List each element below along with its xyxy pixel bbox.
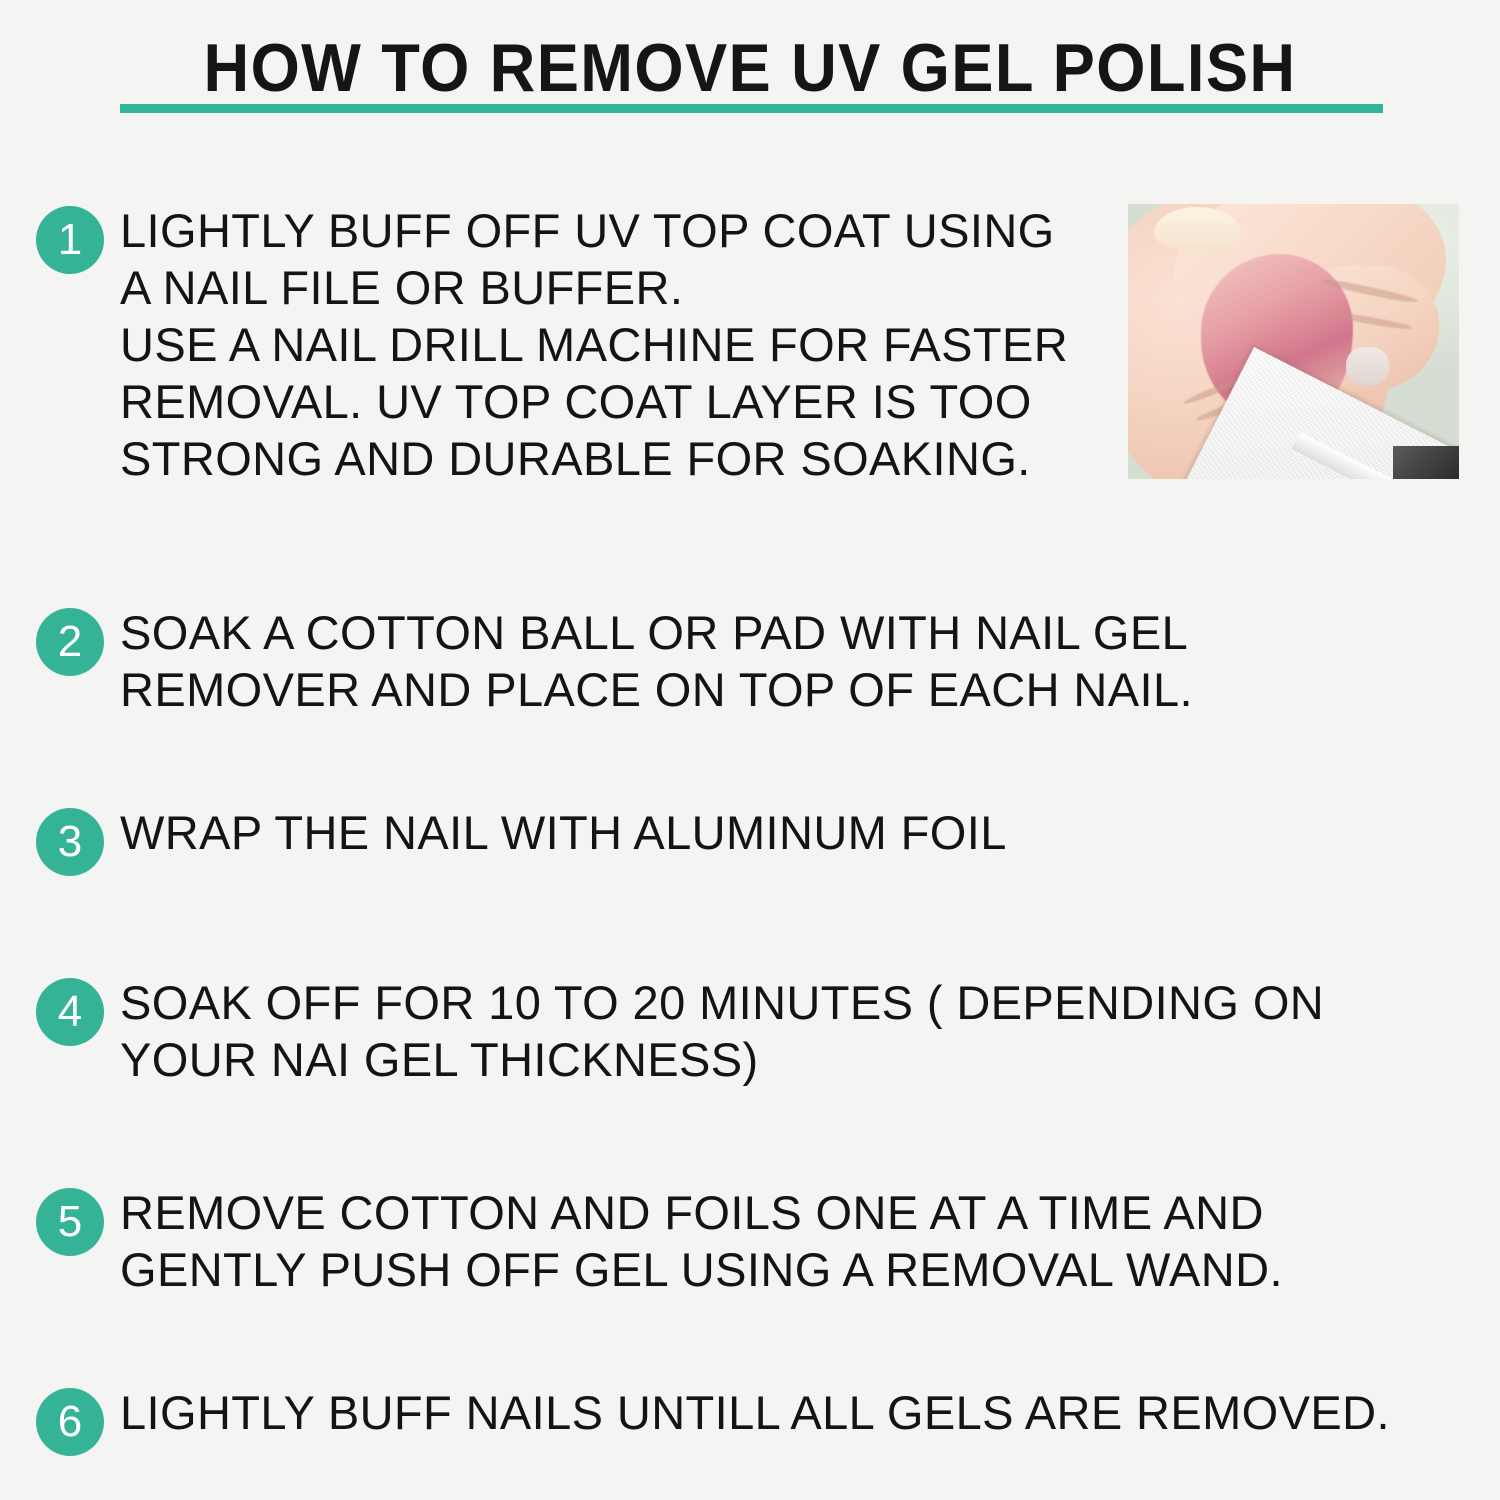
step-line: STRONG AND DURABLE FOR SOAKING. [120,430,1120,487]
page-title: HOW TO REMOVE UV GEL POLISH [53,34,1448,102]
thumbnail-shape [1154,207,1240,251]
step-number-badge: 6 [36,1388,104,1456]
step-line: YOUR NAI GEL THICKNESS) [120,1031,1410,1088]
step-text: WRAP THE NAIL WITH ALUMINUM FOIL [120,804,1410,861]
step-number-badge: 4 [36,978,104,1046]
step-line: LIGHTLY BUFF NAILS UNTILL ALL GELS ARE R… [120,1384,1410,1441]
step-text: REMOVE COTTON AND FOILS ONE AT A TIME AN… [120,1184,1410,1298]
step-line: REMOVAL. UV TOP COAT LAYER IS TOO [120,373,1120,430]
step-line: SOAK OFF FOR 10 TO 20 MINUTES ( DEPENDIN… [120,974,1410,1031]
step-line: LIGHTLY BUFF OFF UV TOP COAT USING [120,202,1120,259]
step-line: USE A NAIL DRILL MACHINE FOR FASTER [120,316,1120,373]
step-line: REMOVER AND PLACE ON TOP OF EACH NAIL. [120,661,1410,718]
step-line: WRAP THE NAIL WITH ALUMINUM FOIL [120,804,1410,861]
step-number-badge: 5 [36,1188,104,1256]
step-number-badge: 3 [36,808,104,876]
photo-dark-corner [1393,446,1459,479]
infographic-poster: HOW TO REMOVE UV GEL POLISH 1 LIGHTLY BU… [0,0,1500,1500]
step-text: LIGHTLY BUFF OFF UV TOP COAT USING A NAI… [120,202,1120,487]
finger-nail-shape [1346,347,1389,386]
step-line: GENTLY PUSH OFF GEL USING A REMOVAL WAND… [120,1241,1410,1298]
step-text: SOAK OFF FOR 10 TO 20 MINUTES ( DEPENDIN… [120,974,1410,1088]
buffing-nail-photo [1128,204,1459,479]
title-divider [120,104,1383,113]
poster-header: HOW TO REMOVE UV GEL POLISH [0,34,1500,102]
step-text: SOAK A COTTON BALL OR PAD WITH NAIL GEL … [120,604,1410,718]
photo-canvas [1128,204,1459,479]
step-line: SOAK A COTTON BALL OR PAD WITH NAIL GEL [120,604,1410,661]
step-line: A NAIL FILE OR BUFFER. [120,259,1120,316]
step-text: LIGHTLY BUFF NAILS UNTILL ALL GELS ARE R… [120,1384,1410,1441]
step-number-badge: 2 [36,608,104,676]
step-line: REMOVE COTTON AND FOILS ONE AT A TIME AN… [120,1184,1410,1241]
step-number-badge: 1 [36,206,104,274]
